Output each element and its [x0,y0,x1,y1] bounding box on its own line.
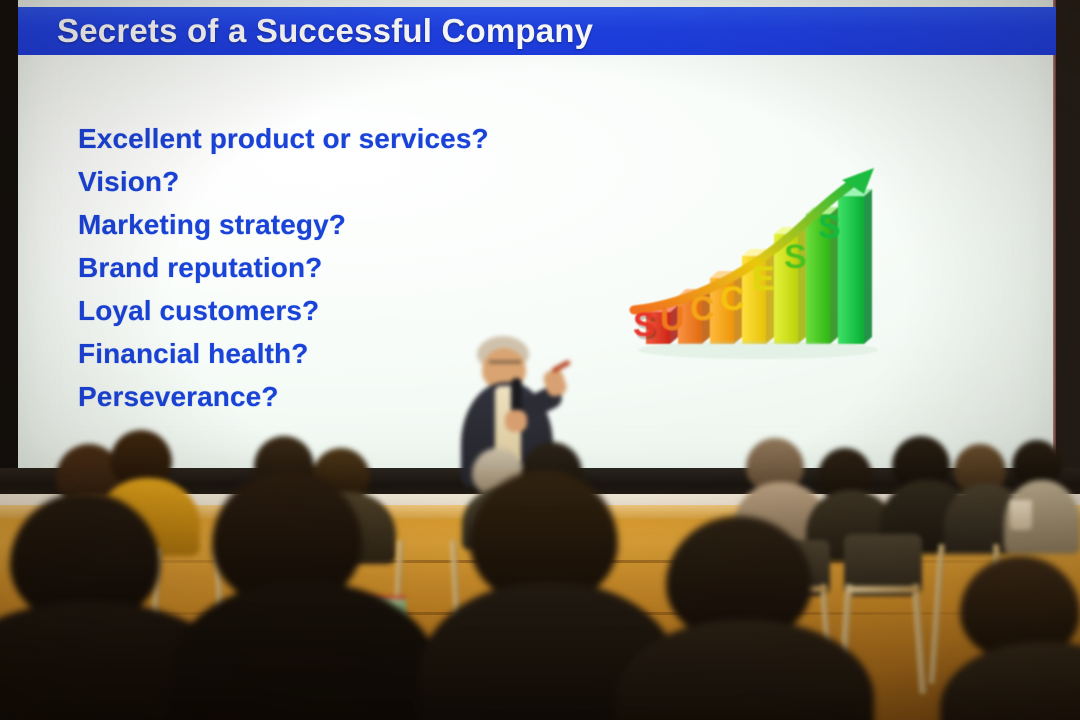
speaker-mic-hand [505,410,527,432]
svg-text:S: S [633,306,656,344]
attendee-front-center-left [168,470,428,720]
slide-bullet-1: Excellent product or services? [78,117,638,160]
slide-bullet-5: Loyal customers? [78,289,638,332]
screen-right-rim [1053,0,1057,470]
svg-text:C: C [690,290,715,328]
slide-bullet-3: Marketing strategy? [78,203,638,246]
paper-cup [1010,500,1032,530]
bar-7 [838,189,872,344]
svg-text:C: C [720,280,745,318]
auditorium-photo: Secrets of a Successful Company Excellen… [0,0,1080,720]
attendee-back-11 [1004,440,1080,550]
slide-title: Secrets of a Successful Company [57,12,593,50]
svg-text:S: S [784,238,807,276]
slide-bullet-2: Vision? [78,160,638,203]
slide-title-bar: Secrets of a Successful Company [18,7,1056,55]
attendee-front-right [616,516,866,720]
attendee-front-far-right [940,556,1080,720]
svg-text:U: U [660,300,685,338]
success-growth-graphic: S S U C C E S S [628,160,898,360]
glasses-icon [489,361,521,369]
svg-text:E: E [752,260,775,298]
svg-text:S: S [818,208,841,246]
slide-bullet-4: Brand reputation? [78,246,638,289]
